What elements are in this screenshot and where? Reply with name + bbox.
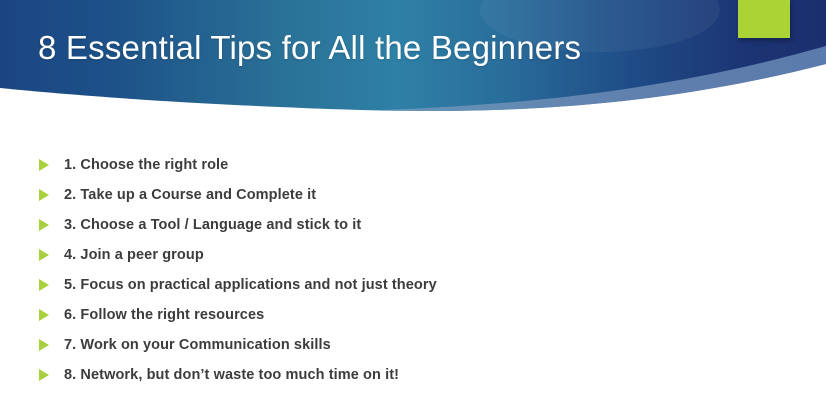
triangle-bullet-icon — [38, 339, 49, 352]
page-title: 8 Essential Tips for All the Beginners — [38, 29, 581, 67]
triangle-bullet-icon — [38, 369, 49, 382]
list-item-label: 5. Focus on practical applications and n… — [64, 277, 437, 293]
list-item-label: 8. Network, but don’t waste too much tim… — [64, 367, 399, 383]
triangle-bullet-icon — [38, 219, 49, 232]
list-item: 6. Follow the right resources — [38, 300, 798, 330]
list-item: 4. Join a peer group — [38, 240, 798, 270]
list-item: 3. Choose a Tool / Language and stick to… — [38, 210, 798, 240]
list-item: 7. Work on your Communication skills — [38, 330, 798, 360]
triangle-bullet-icon — [38, 249, 49, 262]
list-item: 5. Focus on practical applications and n… — [38, 270, 798, 300]
list-item: 8. Network, but don’t waste too much tim… — [38, 360, 798, 390]
list-item-label: 6. Follow the right resources — [64, 307, 264, 323]
list-item-label: 3. Choose a Tool / Language and stick to… — [64, 217, 361, 233]
triangle-bullet-icon — [38, 309, 49, 322]
presentation-slide: 8 Essential Tips for All the Beginners 1… — [0, 0, 826, 408]
list-item-label: 4. Join a peer group — [64, 247, 204, 263]
list-item-label: 1. Choose the right role — [64, 157, 228, 173]
green-accent-rectangle — [738, 0, 790, 38]
list-item-label: 2. Take up a Course and Complete it — [64, 187, 316, 203]
triangle-bullet-icon — [38, 189, 49, 202]
triangle-bullet-icon — [38, 159, 49, 172]
triangle-bullet-icon — [38, 279, 49, 292]
list-item-label: 7. Work on your Communication skills — [64, 337, 331, 353]
list-item: 2. Take up a Course and Complete it — [38, 180, 798, 210]
tips-bullet-list: 1. Choose the right role 2. Take up a Co… — [38, 150, 798, 390]
list-item: 1. Choose the right role — [38, 150, 798, 180]
